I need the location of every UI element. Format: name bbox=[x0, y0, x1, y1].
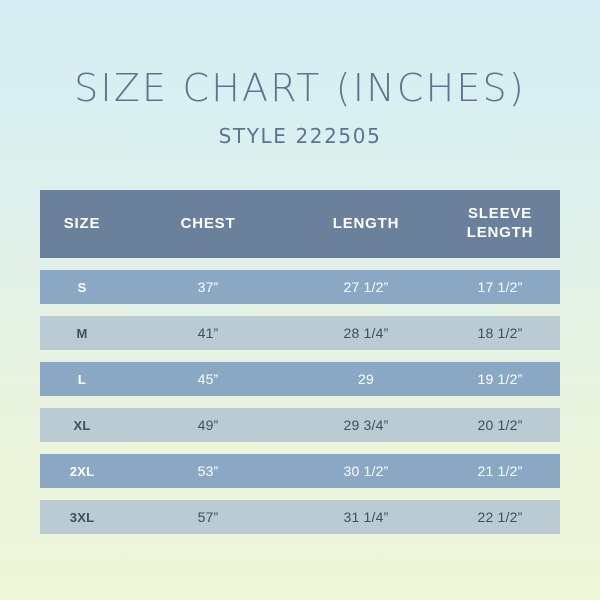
cell-chest: 49” bbox=[124, 417, 292, 433]
cell-size: 3XL bbox=[40, 510, 124, 525]
cell-sleeve-length: 20 1/2” bbox=[440, 417, 560, 433]
table-body: S37”27 1/2”17 1/2”M41”28 1/4”18 1/2”L45”… bbox=[40, 270, 560, 534]
cell-size: 2XL bbox=[40, 464, 124, 479]
column-header-chest: CHEST bbox=[124, 215, 292, 234]
table-row: L45”2919 1/2” bbox=[40, 362, 560, 396]
cell-size: L bbox=[40, 372, 124, 387]
table-row: M41”28 1/4”18 1/2” bbox=[40, 316, 560, 350]
size-chart-table: SIZE CHEST LENGTH SLEEVE LENGTH S37”27 1… bbox=[40, 190, 560, 546]
cell-size: S bbox=[40, 280, 124, 295]
column-header-length: LENGTH bbox=[292, 215, 440, 234]
column-header-sleeve-line1: SLEEVE bbox=[468, 205, 532, 222]
table-row: 2XL53”30 1/2”21 1/2” bbox=[40, 454, 560, 488]
cell-sleeve-length: 18 1/2” bbox=[440, 325, 560, 341]
column-header-size: SIZE bbox=[40, 215, 124, 234]
cell-chest: 37” bbox=[124, 279, 292, 295]
cell-length: 29 3/4” bbox=[292, 417, 440, 433]
heading-block: SIZE CHART (INCHES) STYLE 222505 bbox=[0, 0, 600, 148]
cell-length: 28 1/4” bbox=[292, 325, 440, 341]
table-row: XL49”29 3/4”20 1/2” bbox=[40, 408, 560, 442]
size-chart-page: SIZE CHART (INCHES) STYLE 222505 SIZE CH… bbox=[0, 0, 600, 600]
column-header-sleeve-line2: LENGTH bbox=[467, 224, 533, 241]
cell-sleeve-length: 17 1/2” bbox=[440, 279, 560, 295]
cell-length: 29 bbox=[292, 371, 440, 387]
table-header-row: SIZE CHEST LENGTH SLEEVE LENGTH bbox=[40, 190, 560, 258]
cell-sleeve-length: 22 1/2” bbox=[440, 509, 560, 525]
table-row: S37”27 1/2”17 1/2” bbox=[40, 270, 560, 304]
cell-size: M bbox=[40, 326, 124, 341]
page-title: SIZE CHART (INCHES) bbox=[0, 68, 600, 110]
cell-chest: 45” bbox=[124, 371, 292, 387]
column-header-sleeve-length: SLEEVE LENGTH bbox=[440, 205, 560, 243]
cell-sleeve-length: 19 1/2” bbox=[440, 371, 560, 387]
cell-length: 27 1/2” bbox=[292, 279, 440, 295]
cell-chest: 57” bbox=[124, 509, 292, 525]
cell-sleeve-length: 21 1/2” bbox=[440, 463, 560, 479]
cell-chest: 53” bbox=[124, 463, 292, 479]
cell-chest: 41” bbox=[124, 325, 292, 341]
cell-size: XL bbox=[40, 418, 124, 433]
cell-length: 31 1/4” bbox=[292, 509, 440, 525]
table-row: 3XL57”31 1/4”22 1/2” bbox=[40, 500, 560, 534]
page-subtitle: STYLE 222505 bbox=[0, 124, 600, 148]
cell-length: 30 1/2” bbox=[292, 463, 440, 479]
